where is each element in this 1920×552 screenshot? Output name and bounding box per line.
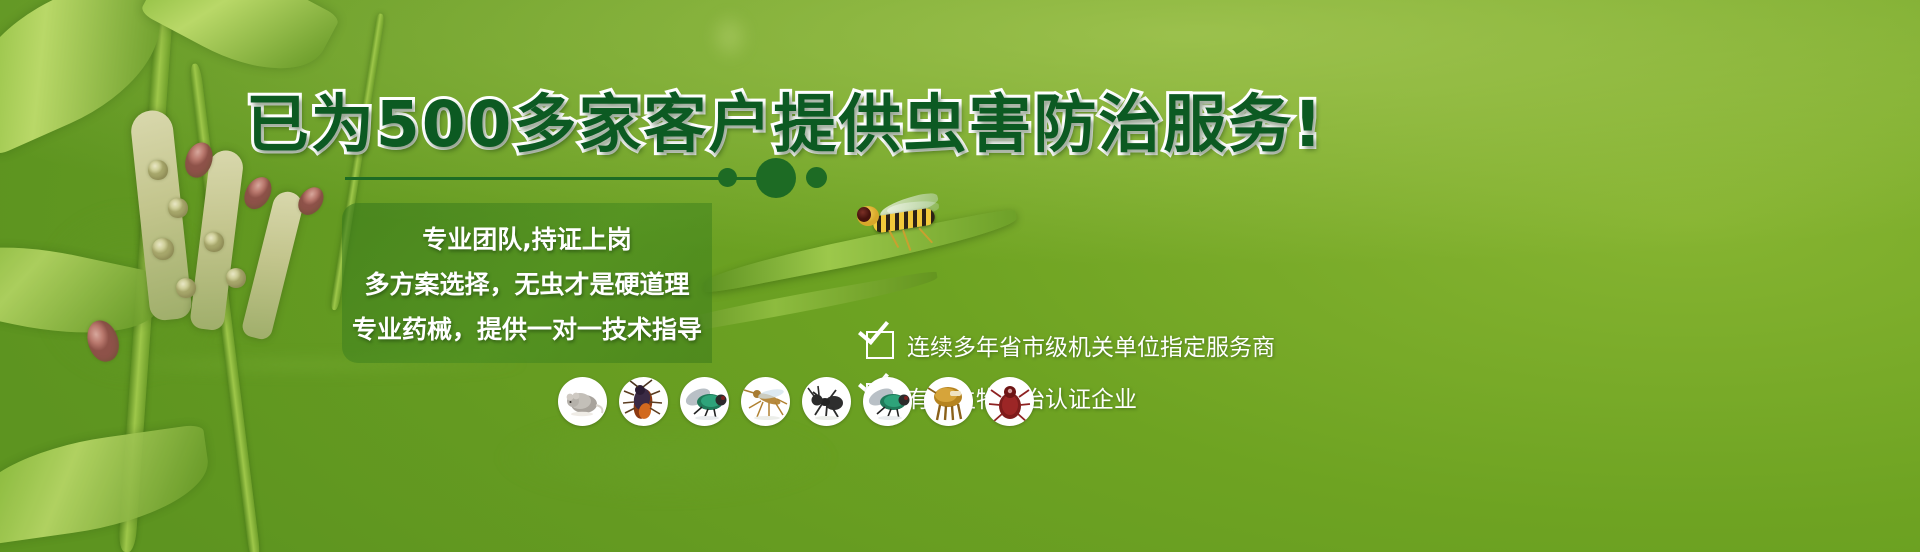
flower-bud-8: [176, 278, 196, 298]
fly-icon-2[interactable]: [863, 377, 912, 426]
feature-panel-text: 专业团队,持证上岗 多方案选择，无虫才是硬道理 专业药械，提供一对一技术指导: [342, 203, 712, 363]
pest-icon-row: [558, 377, 1034, 426]
fly-eye: [857, 207, 871, 222]
mosquito-icon[interactable]: [741, 377, 790, 426]
hover-fly-insect-icon: [845, 196, 965, 252]
cockroach-icon[interactable]: [619, 377, 668, 426]
pest-control-hero-banner: 已为500多家客户提供虫害防治服务! 专业团队,持证上岗 多方案选择，无虫才是硬…: [0, 0, 1920, 552]
fly-leg-1: [888, 230, 899, 249]
flower-spike-3: [240, 189, 305, 342]
flower-bud-6: [168, 198, 188, 218]
flower-bud-9: [204, 232, 224, 252]
flower-bud-10: [226, 268, 246, 288]
flower-bud-7: [152, 238, 174, 260]
bedbug-icon[interactable]: [985, 377, 1034, 426]
feature-line-2: 多方案选择，无虫才是硬道理: [364, 265, 689, 301]
rat-icon[interactable]: [558, 377, 607, 426]
fly-leg-3: [918, 227, 933, 243]
divider-line: [345, 177, 763, 180]
banner-headline: 已为500多家客户提供虫害防治服务!: [0, 74, 1570, 165]
feature-line-3: 专业药械，提供一对一技术指导: [352, 310, 702, 346]
fly-icon[interactable]: [680, 377, 729, 426]
decorative-dot-small: [718, 168, 737, 187]
flea-icon[interactable]: [924, 377, 973, 426]
checkbox-checked-icon: [866, 331, 894, 359]
list-item: 连续多年省市级机关单位指定服务商: [866, 328, 1275, 362]
plant-leaf-4: [0, 424, 215, 547]
fly-leg-2: [902, 230, 911, 251]
feature-line-1: 专业团队,持证上岗: [422, 220, 632, 256]
decorative-dot-large: [756, 158, 796, 198]
ant-icon[interactable]: [802, 377, 851, 426]
decorative-dot-medium: [806, 167, 827, 188]
checklist-label-1: 连续多年省市级机关单位指定服务商: [907, 328, 1275, 362]
